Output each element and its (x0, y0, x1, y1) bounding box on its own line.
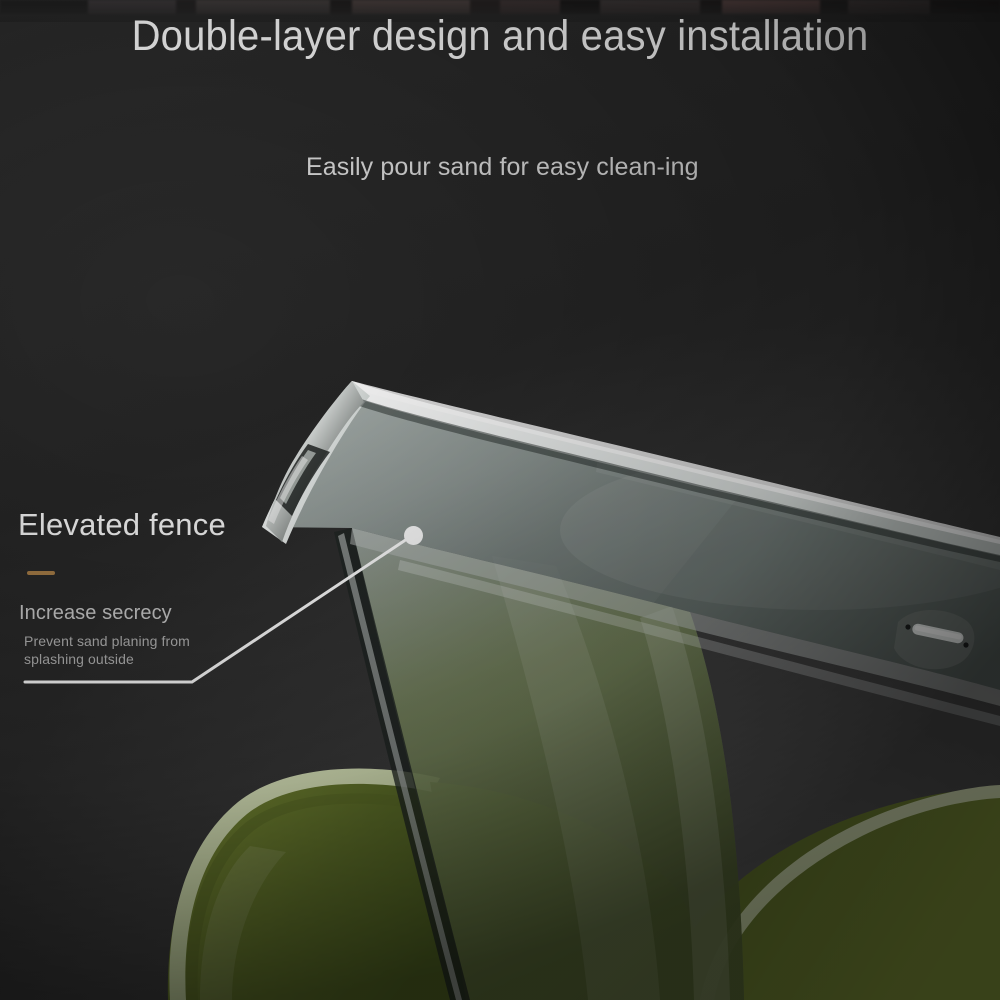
callout-marker-dot (404, 526, 423, 545)
callout-leader-line (0, 0, 1000, 1000)
product-feature-image: Double-layer design and easy installatio… (0, 0, 1000, 1000)
